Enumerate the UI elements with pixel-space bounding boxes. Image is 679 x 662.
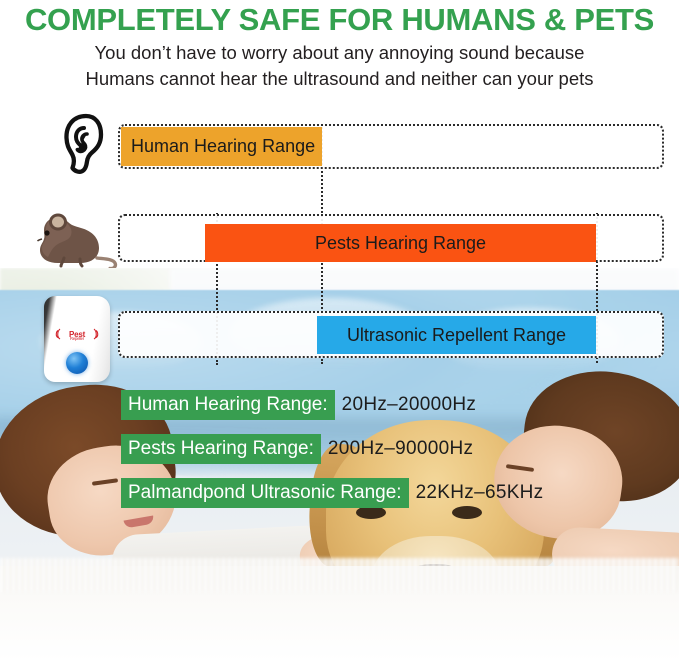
infographic-page: COMPLETELY SAFE FOR HUMANS & PETS You do… <box>0 0 679 662</box>
bar-ultrasonic-repellent-range: Ultrasonic Repellent Range <box>317 316 596 354</box>
legend-value-human: 20Hz–20000Hz <box>342 392 477 417</box>
mouse-icon <box>34 206 118 268</box>
device-led-indicator <box>66 352 88 374</box>
device-brand-subname: Repeller <box>70 336 84 341</box>
bar-label-human: Human Hearing Range <box>131 136 315 157</box>
sound-wave-left-icon <box>54 328 61 340</box>
repeller-device-icon: Pest Repeller <box>44 296 110 382</box>
legend-label-ultrasonic: Palmandpond Ultrasonic Range: <box>121 478 409 508</box>
bar-pests-hearing-range: Pests Hearing Range <box>205 224 596 262</box>
legend-row-human: Human Hearing Range:20Hz–20000Hz <box>121 390 476 420</box>
legend-value-pests: 200Hz–90000Hz <box>328 436 473 461</box>
frequency-range-chart: Pest Repeller Human Hearing Range Pests … <box>0 0 679 380</box>
bar-label-ultrasonic: Ultrasonic Repellent Range <box>347 325 566 346</box>
legend-label-human: Human Hearing Range: <box>121 390 335 420</box>
legend-value-ultrasonic: 22KHz–65KHz <box>416 480 544 505</box>
device-brand-logo: Pest Repeller <box>52 326 102 343</box>
legend-label-pests: Pests Hearing Range: <box>121 434 321 464</box>
sound-wave-right-icon <box>93 328 100 340</box>
rug-texture <box>0 558 679 592</box>
legend-row-ultrasonic: Palmandpond Ultrasonic Range:22KHz–65KHz <box>121 478 544 508</box>
ear-icon <box>57 112 115 178</box>
legend-row-pests: Pests Hearing Range:200Hz–90000Hz <box>121 434 473 464</box>
bar-human-hearing-range: Human Hearing Range <box>121 127 322 166</box>
bar-label-pests: Pests Hearing Range <box>315 233 486 254</box>
